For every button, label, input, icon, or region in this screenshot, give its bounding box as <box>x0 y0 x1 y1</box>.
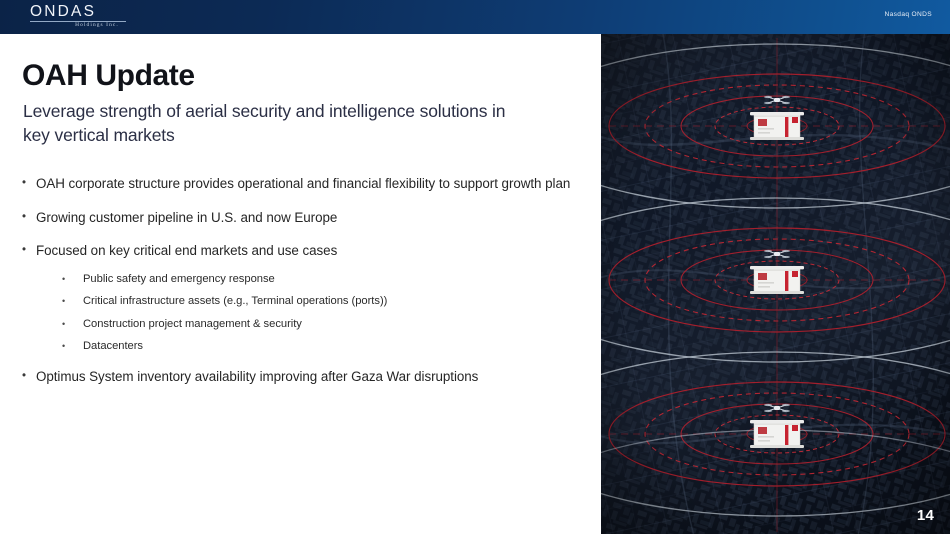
bullet-text: OAH corporate structure provides operati… <box>36 174 570 193</box>
sub-list-item: • Datacenters <box>22 338 582 355</box>
bullet-text: Focused on key critical end markets and … <box>36 241 337 260</box>
bullet-icon: • <box>22 208 36 227</box>
page-number: 14 <box>917 507 934 524</box>
list-item: • Focused on key critical end markets an… <box>22 241 582 260</box>
list-item: • Growing customer pipeline in U.S. and … <box>22 208 582 227</box>
sub-list-item: • Construction project management & secu… <box>22 316 582 333</box>
sub-list-item: • Critical infrastructure assets (e.g., … <box>22 293 582 310</box>
logo-wordmark: ONDAS <box>30 3 150 20</box>
sub-bullet-text: Critical infrastructure assets (e.g., Te… <box>83 293 387 310</box>
aerial-scene-svg <box>601 34 950 534</box>
list-item: • OAH corporate structure provides opera… <box>22 174 582 193</box>
bullet-icon: • <box>22 367 36 386</box>
sub-bullet-list: • Public safety and emergency response •… <box>22 271 582 356</box>
sub-bullet-icon: • <box>62 293 83 310</box>
header-band: ONDAS Holdings Inc. Nasdaq ONDS <box>0 0 950 34</box>
sub-bullet-icon: • <box>62 338 83 355</box>
list-item: • Optimus System inventory availability … <box>22 367 582 386</box>
content-column: OAH Update Leverage strength of aerial s… <box>0 34 601 534</box>
sub-list-item: • Public safety and emergency response <box>22 271 582 288</box>
sub-bullet-text: Datacenters <box>83 338 143 355</box>
sub-bullet-icon: • <box>62 316 83 333</box>
bullet-text: Growing customer pipeline in U.S. and no… <box>36 208 337 227</box>
slide: ONDAS Holdings Inc. Nasdaq ONDS OAH Upda… <box>0 0 950 534</box>
aerial-coverage-image: 14 <box>601 34 950 534</box>
bullet-icon: • <box>22 241 36 260</box>
sub-bullet-text: Public safety and emergency response <box>83 271 275 288</box>
sub-bullet-icon: • <box>62 271 83 288</box>
bullet-text: Optimus System inventory availability im… <box>36 367 478 386</box>
logo-tagline: Holdings Inc. <box>30 22 150 28</box>
page-subtitle: Leverage strength of aerial security and… <box>23 100 523 147</box>
bullet-icon: • <box>22 174 36 193</box>
bullet-list: • OAH corporate structure provides opera… <box>22 174 582 401</box>
nasdaq-ticker: Nasdaq ONDS <box>885 11 932 18</box>
page-title: OAH Update <box>22 59 195 93</box>
ondas-logo: ONDAS Holdings Inc. <box>30 3 150 31</box>
sub-bullet-text: Construction project management & securi… <box>83 316 302 333</box>
